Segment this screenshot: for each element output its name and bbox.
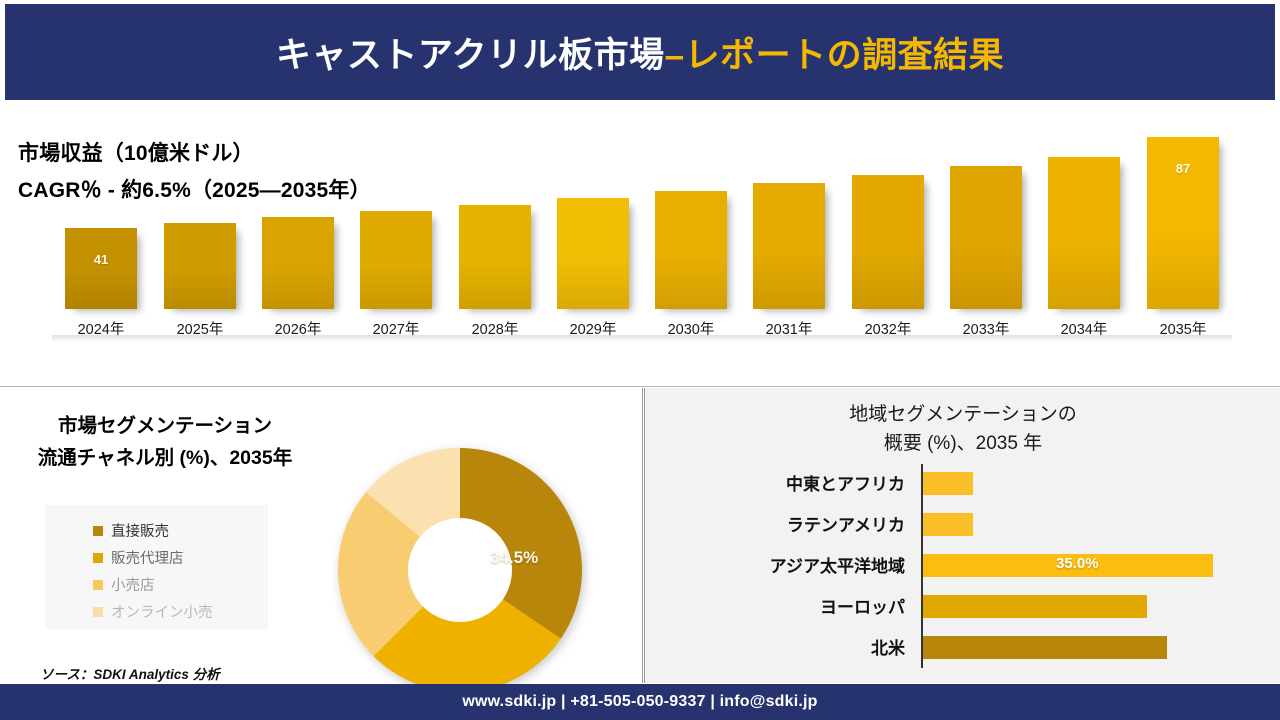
bar-x-label: 2025年 [158,309,242,339]
bar-x-label: 2035年 [1141,309,1225,339]
header-banner: キャストアクリル板市場–レポートの調査結果 [5,4,1275,100]
region-bar [923,595,1147,618]
legend-label: 販売代理店 [111,547,184,568]
bar-shape [459,205,531,309]
donut-value-label: 34.5% [490,548,538,568]
region-bar-track [915,462,1280,503]
revenue-bar-2030年: 2030年 [655,191,727,309]
bar-x-label: 2032年 [846,309,930,339]
region-bar-plot: 中東とアフリカラテンアメリカアジア太平洋地域35.0%ヨーロッパ北米 [645,462,1280,670]
bar-shape [557,198,629,309]
region-label: 中東とアフリカ [645,470,915,495]
region-label: ヨーロッパ [645,593,915,618]
revenue-bar-2035年: 872035年 [1147,137,1219,309]
bar-x-label: 2030年 [649,309,733,339]
revenue-bar-2025年: 2025年 [164,223,236,309]
bar-x-label: 2028年 [453,309,537,339]
bar-shape [753,183,825,309]
bar-shape [852,175,924,309]
bar-shape [950,166,1022,309]
legend-item-2: 小売店 [93,571,268,598]
source-note: ソース：SDKI Analytics 分析 [40,663,220,683]
bar-x-label: 2029年 [551,309,635,339]
region-label: 北米 [645,634,915,659]
region-bar-value-label: 35.0% [1056,555,1099,572]
segmentation-title-line1: 市場セグメンテーション [0,410,330,442]
legend-item-1: 販売代理店 [93,544,268,571]
legend-item-0: 直接販売 [93,517,268,544]
bar-shape [1048,157,1120,309]
region-bar [923,513,973,536]
bar-shape [262,217,334,309]
bar-shape: 87 [1147,137,1219,309]
region-label: ラテンアメリカ [645,511,915,536]
revenue-bar-2034年: 2034年 [1048,157,1120,309]
region-bar [923,472,973,495]
page-title-main: キャストアクリル板市場 [276,36,665,75]
region-row-北米: 北米 [645,626,1280,667]
region-bar-track: 35.0% [915,544,1280,585]
revenue-bar-plot: 412024年2025年2026年2027年2028年2029年2030年203… [52,121,1232,353]
region-title: 地域セグメンテーションの 概要 (%)、2035 年 [645,400,1280,458]
revenue-bar-2032年: 2032年 [852,175,924,309]
legend-swatch-icon [93,553,103,563]
segmentation-donut-chart: 34.5% [338,448,590,700]
page-title-accent: –レポートの調査結果 [665,36,1004,75]
bar-value-label: 41 [65,252,137,267]
revenue-bar-2028年: 2028年 [459,205,531,309]
region-row-ラテンアメリカ: ラテンアメリカ [645,503,1280,544]
bar-x-label: 2026年 [256,309,340,339]
legend-label: 小売店 [111,574,155,595]
revenue-chart-panel: 市場収益（10億米ドル） CAGR％ - 約6.5%（2025―2035年） 4… [0,103,1280,387]
region-bar-track [915,503,1280,544]
legend-swatch-icon [93,580,103,590]
bar-shape [655,191,727,309]
legend-label: 直接販売 [111,520,169,541]
bar-x-label: 2031年 [747,309,831,339]
legend-label: オンライン小売 [111,601,213,622]
revenue-bar-2026年: 2026年 [262,217,334,309]
page-title: キャストアクリル板市場–レポートの調査結果 [276,27,1004,78]
footer-banner: www.sdki.jp | +81-505-050-9337 | info@sd… [0,684,1280,720]
footer-contact-text: www.sdki.jp | +81-505-050-9337 | info@sd… [462,693,817,711]
donut-ring [338,448,582,692]
bar-x-label: 2033年 [944,309,1028,339]
revenue-bar-2033年: 2033年 [950,166,1022,309]
region-bar [923,636,1167,659]
region-label: アジア太平洋地域 [645,552,915,577]
revenue-bar-2029年: 2029年 [557,198,629,309]
legend-item-3: オンライン小売 [93,598,268,625]
region-title-line2: 概要 (%)、2035 年 [645,429,1280,458]
region-chart-panel: 地域セグメンテーションの 概要 (%)、2035 年 中東とアフリカラテンアメリ… [644,388,1280,683]
segmentation-title-line2: 流通チャネル別 (%)、2035年 [0,442,330,474]
bar-shape: 41 [65,228,137,309]
bar-shape [164,223,236,309]
region-row-アジア太平洋地域: アジア太平洋地域35.0% [645,544,1280,585]
region-row-中東とアフリカ: 中東とアフリカ [645,462,1280,503]
donut-hole [408,518,512,622]
segmentation-title: 市場セグメンテーション 流通チャネル別 (%)、2035年 [0,410,330,474]
legend-swatch-icon [93,607,103,617]
revenue-bar-2024年: 412024年 [65,228,137,309]
region-bar-track [915,585,1280,626]
region-title-line1: 地域セグメンテーションの [645,400,1280,429]
segmentation-legend: 直接販売販売代理店小売店オンライン小売 [45,505,268,629]
bar-x-label: 2024年 [59,309,143,339]
revenue-bar-2031年: 2031年 [753,183,825,309]
revenue-bar-2027年: 2027年 [360,211,432,309]
bar-x-label: 2034年 [1042,309,1126,339]
bar-shape [360,211,432,309]
region-row-ヨーロッパ: ヨーロッパ [645,585,1280,626]
legend-swatch-icon [93,526,103,536]
region-bar-track [915,626,1280,667]
bar-value-label: 87 [1147,161,1219,176]
bar-x-label: 2027年 [354,309,438,339]
